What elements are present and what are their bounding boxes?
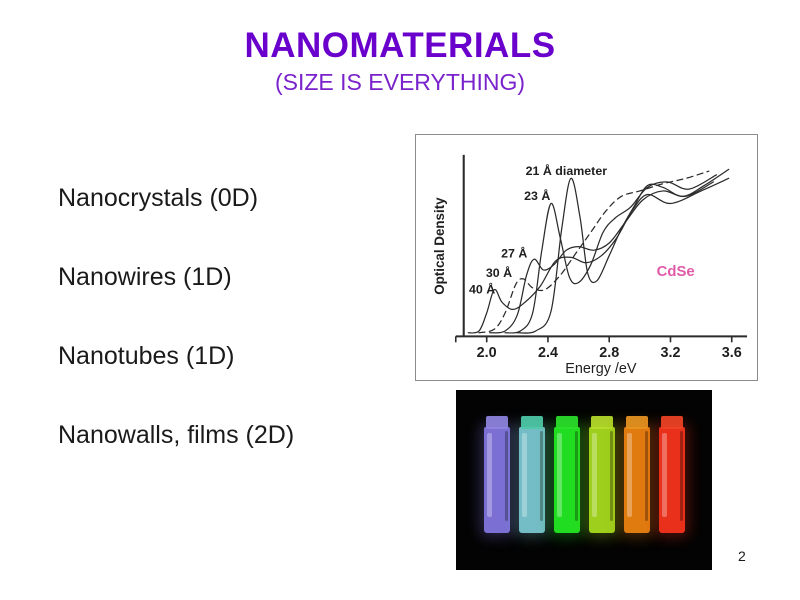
x-tick-label: 2.0 (477, 345, 497, 361)
vial-green (554, 427, 580, 533)
page-number: 2 (738, 548, 746, 564)
vial-shadow-edge (680, 431, 683, 521)
vial-blue-violet (484, 427, 510, 533)
vial-highlight (557, 433, 562, 517)
quantum-dot-vials-photo (456, 390, 712, 570)
vial-orange (624, 427, 650, 533)
curve-annotation: 21 Å diameter (526, 163, 608, 178)
curve-annotation: 40 Å (469, 281, 495, 296)
vial-neck (486, 416, 508, 429)
x-tick-label: 2.8 (599, 345, 619, 361)
curve-annotation: 23 Å (524, 188, 550, 203)
vial-neck (626, 416, 648, 429)
page-title: NANOMATERIALS (0, 28, 800, 65)
vial-yellow-green (589, 427, 615, 533)
vial-neck (556, 416, 578, 429)
y-axis-title: Optical Density (432, 197, 447, 295)
x-axis-ticks: 2.02.42.83.23.6 (456, 336, 742, 361)
vial-highlight (627, 433, 632, 517)
vial-neck (591, 416, 613, 429)
vial-highlight (662, 433, 667, 517)
vial-red (659, 427, 685, 533)
list-item: Nanocrystals (0D) (58, 186, 398, 211)
spectra-plot: 2.02.42.83.23.6 21 Å diameter23 Å27 Å30 … (416, 135, 757, 380)
list-item: Nanowires (1D) (58, 265, 398, 290)
vial-shadow-edge (540, 431, 543, 521)
vial-neck (521, 416, 543, 429)
title-block: NANOMATERIALS (SIZE IS EVERYTHING) (0, 28, 800, 96)
vial-neck (661, 416, 683, 429)
x-axis-title: Energy /eV (565, 361, 637, 377)
vial-highlight (592, 433, 597, 517)
list-item: Nanowalls, films (2D) (58, 423, 398, 448)
x-tick-label: 3.2 (660, 345, 680, 361)
sample-label: CdSe (657, 264, 695, 280)
bullet-list: Nanocrystals (0D) Nanowires (1D) Nanotub… (58, 186, 398, 448)
x-tick-label: 3.6 (722, 345, 742, 361)
vial-shadow-edge (505, 431, 508, 521)
vial-highlight (522, 433, 527, 517)
absorption-spectra-figure: 2.02.42.83.23.6 21 Å diameter23 Å27 Å30 … (415, 134, 758, 381)
vial-shadow-edge (645, 431, 648, 521)
vial-teal (519, 427, 545, 533)
vial-shadow-edge (575, 431, 578, 521)
vial-shadow-edge (610, 431, 613, 521)
vial-highlight (487, 433, 492, 517)
x-tick-label: 2.4 (538, 345, 558, 361)
curve-annotation: 27 Å (501, 245, 527, 260)
vials-row (456, 390, 712, 570)
curve-annotation: 30 Å (486, 265, 512, 280)
list-item: Nanotubes (1D) (58, 344, 398, 369)
page-subtitle: (SIZE IS EVERYTHING) (0, 69, 800, 97)
